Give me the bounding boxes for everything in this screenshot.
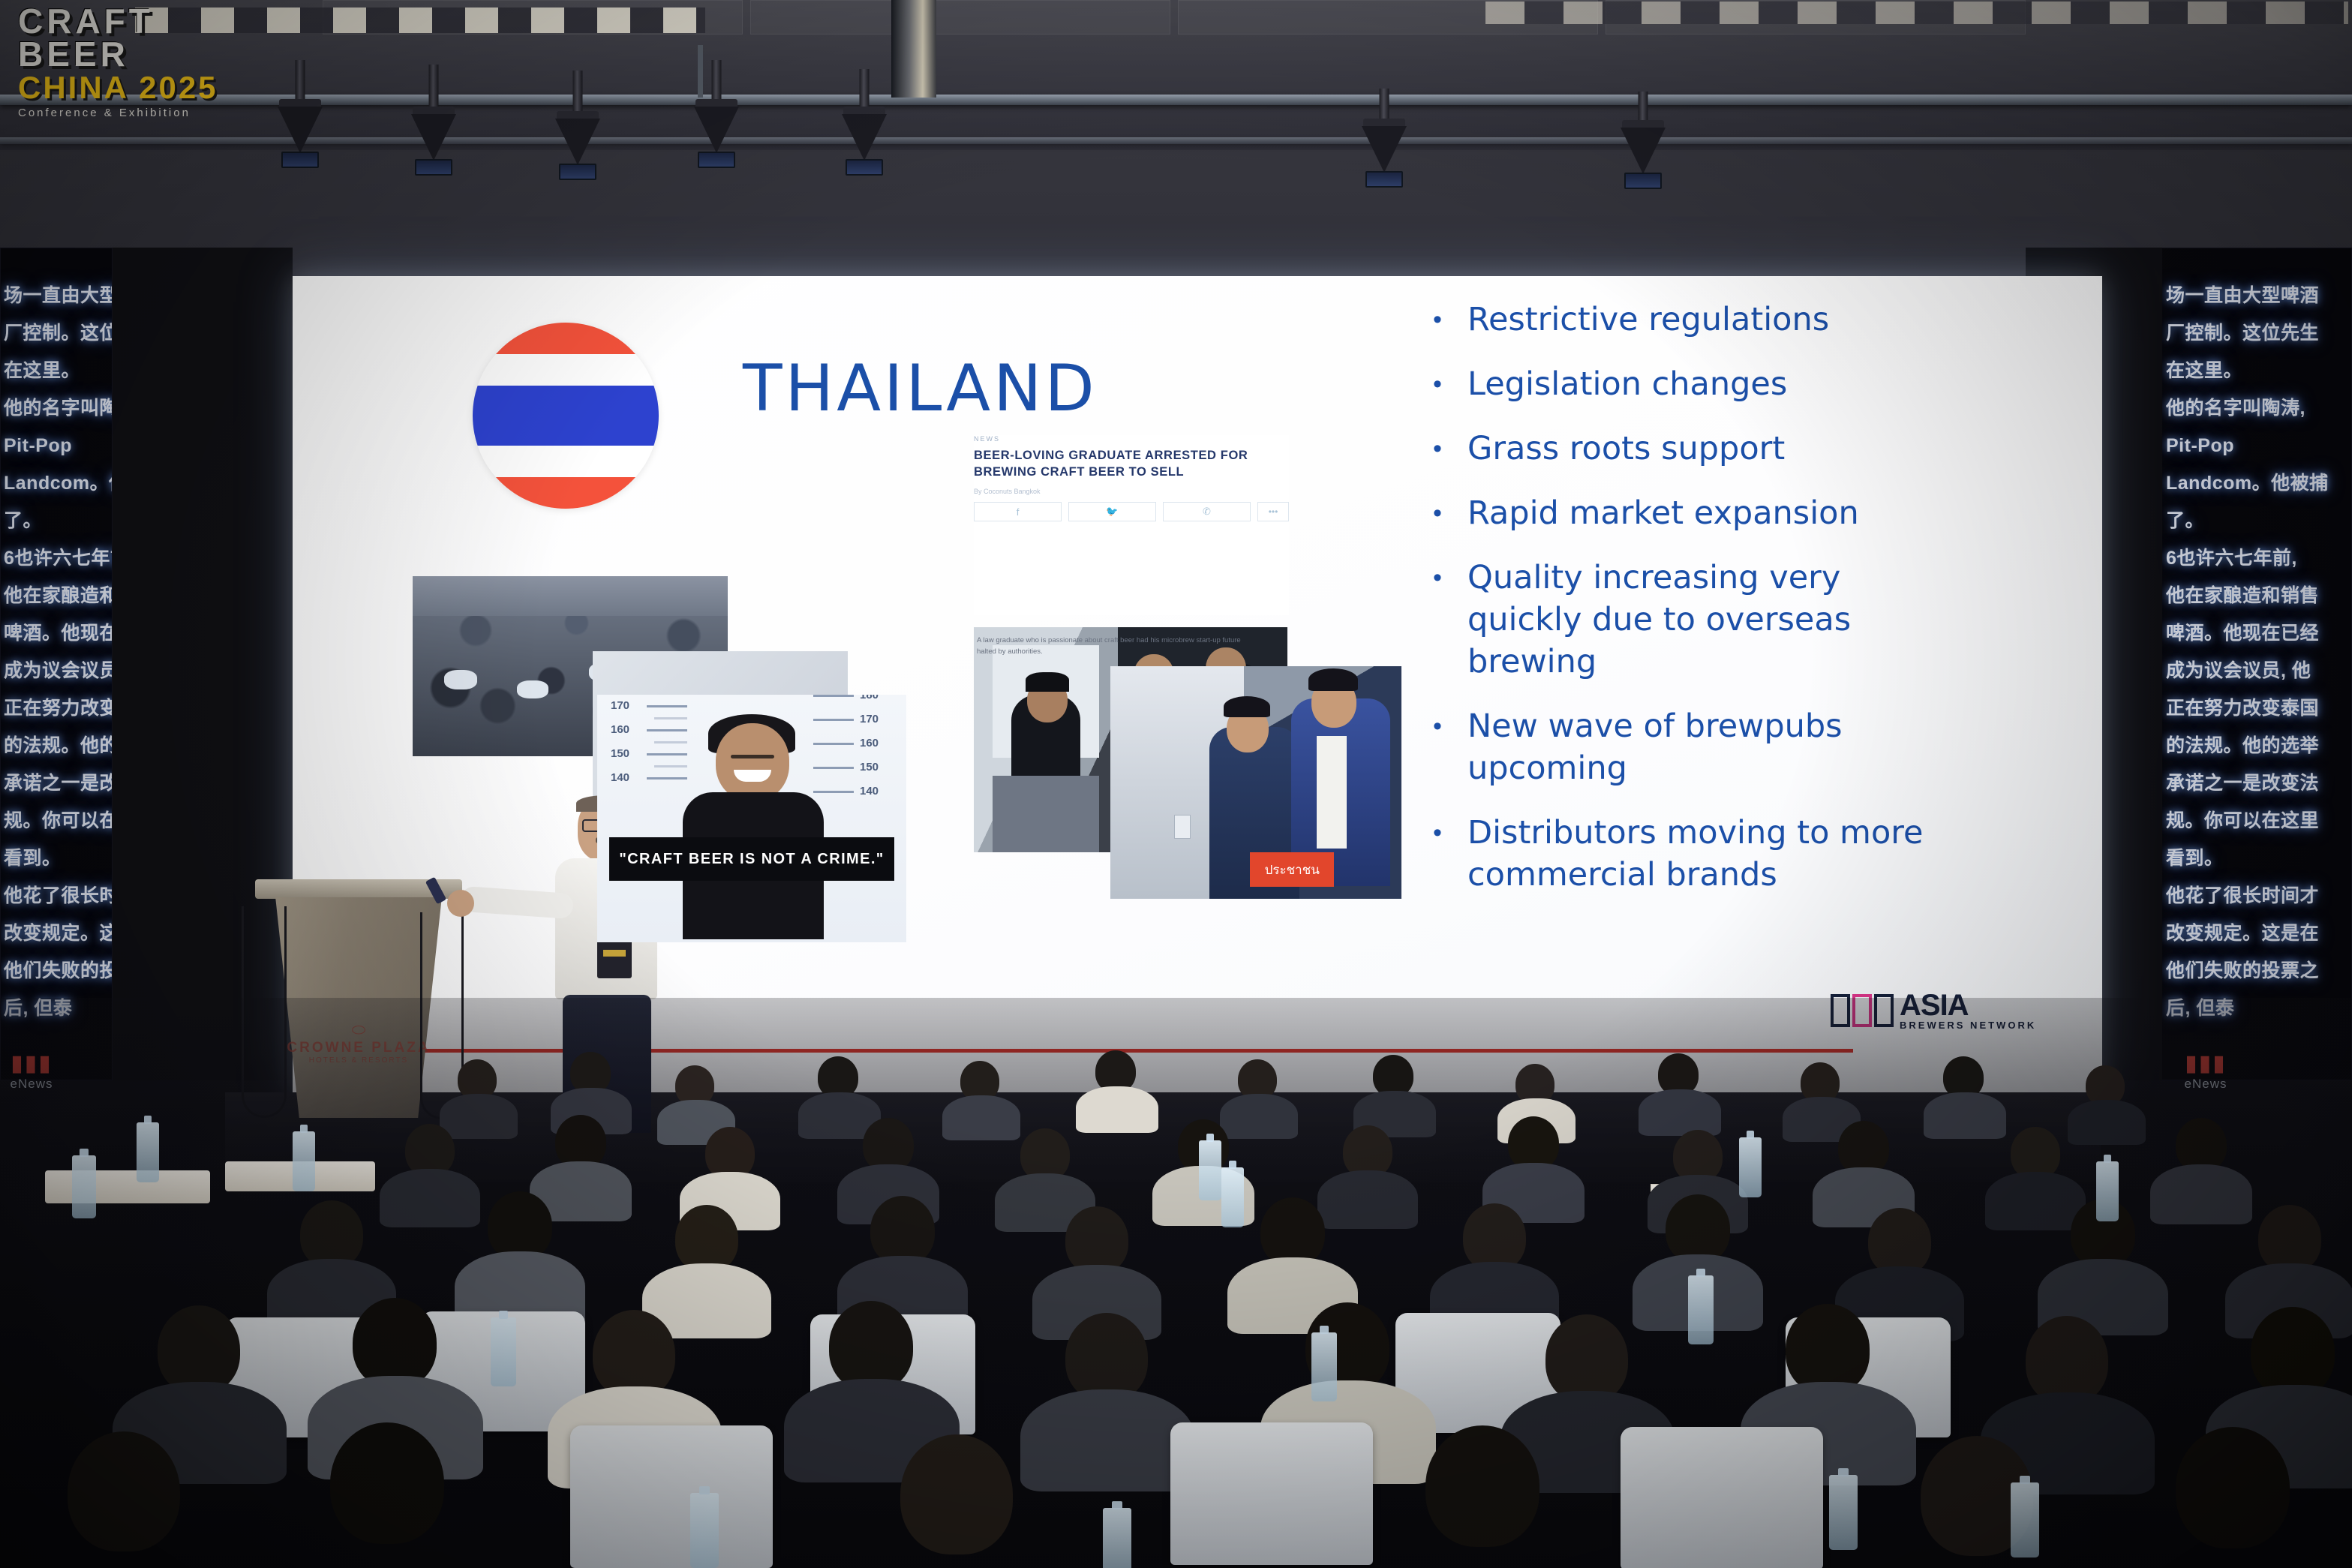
subtitle-line: 规。你可以在这里 xyxy=(4,802,113,840)
subtitle-line: 场一直由大型啤酒 xyxy=(4,277,113,314)
subtitle-line: 他的名字叫陶涛, xyxy=(2166,389,2352,427)
bullet-item: • Legislation changes xyxy=(1433,363,2078,405)
bullet-text: Quality increasing very quickly due to o… xyxy=(1467,557,1948,683)
subtitle-line: 的法规。他的选举 xyxy=(4,727,113,764)
water-bottle xyxy=(2096,1161,2119,1221)
subtitle-line: 看到。 xyxy=(4,840,113,877)
subtitle-line: 了。 xyxy=(2166,502,2352,539)
bullet-item: • New wave of brewpubs upcoming xyxy=(1433,705,2078,789)
bullet-dot: • xyxy=(1433,428,1467,470)
water-bottle xyxy=(1688,1275,1714,1344)
water-bottle xyxy=(1199,1140,1221,1200)
arrested-person xyxy=(678,714,828,939)
bullet-item: • Restrictive regulations xyxy=(1433,299,2078,341)
subtitle-line: 成为议会议员, 他 xyxy=(4,652,113,689)
slide-bullet-list: • Restrictive regulations • Legislation … xyxy=(1433,299,2078,896)
subtitle-line: 6也许六七年前, xyxy=(2166,539,2352,577)
subtitle-line: 6也许六七年前, xyxy=(4,539,113,577)
slide-title: THAILAND xyxy=(743,351,1098,426)
event-logo-line3: Conference & Exhibition xyxy=(18,107,258,119)
right-subtitle-led-wall: 场一直由大型啤酒厂控制。这位先生在这里。他的名字叫陶涛,Pit-PopLandc… xyxy=(2161,248,2352,1080)
subtitle-line: 他们失败的投票之 xyxy=(2166,952,2352,990)
subtitle-line: 在这里。 xyxy=(2166,352,2352,389)
news-article-card: NEWS BEER-LOVING GRADUATE ARRESTED FOR B… xyxy=(974,435,1289,615)
lighting-truss-lower xyxy=(0,137,2352,144)
subtitle-line: 看到。 xyxy=(2166,840,2352,877)
subtitle-line: 厂控制。这位先生 xyxy=(4,314,113,352)
ceiling-panel xyxy=(750,0,1170,35)
subtitle-line: 的法规。他的选举 xyxy=(2166,727,2352,764)
water-bottle xyxy=(72,1155,96,1218)
event-logo: CRAFT BEER CHINA 2025 Conference & Exhib… xyxy=(18,5,258,89)
bullet-item: • Distributors moving to more commercial… xyxy=(1433,812,2078,896)
protest-sign: "CRAFT BEER IS NOT A CRIME." xyxy=(609,837,894,881)
event-logo-line1: CRAFT BEER xyxy=(18,5,258,71)
thailand-flag-icon xyxy=(473,323,659,509)
lighting-truss-upper xyxy=(0,95,2352,105)
share-facebook-icon[interactable]: f xyxy=(974,502,1062,521)
subtitle-line: Pit-Pop xyxy=(2166,427,2352,464)
subtitle-line: 承诺之一是改变法 xyxy=(4,764,113,802)
subtitle-line: 承诺之一是改变法 xyxy=(2166,764,2352,802)
subtitle-line: 他们失败的投票之 xyxy=(4,952,113,990)
subtitle-line: Pit-Pop xyxy=(4,427,113,464)
conference-hall-photo: CRAFT BEER CHINA 2025 Conference & Exhib… xyxy=(0,0,2352,1568)
water-bottle xyxy=(293,1131,315,1191)
mugshot-photo: 170 160 150 140 180 170 160 150 140 xyxy=(597,695,906,942)
bullet-item: • Grass roots support xyxy=(1433,428,2078,470)
subtitle-line: 他花了很长时间才 xyxy=(4,877,113,915)
bullet-text: Legislation changes xyxy=(1467,363,1787,405)
bullet-text: Rapid market expansion xyxy=(1467,492,1859,534)
bullet-text: New wave of brewpubs upcoming xyxy=(1467,705,1888,789)
bullet-item: • Quality increasing very quickly due to… xyxy=(1433,557,2078,683)
parliament-placard: ประชาชน xyxy=(1250,852,1334,887)
subtitle-line: 厂控制。这位先生 xyxy=(2166,314,2352,352)
truss-vertical xyxy=(698,45,703,98)
news-body-text: A law graduate who is passionate about c… xyxy=(977,635,1262,657)
subtitle-line: 规。你可以在这里 xyxy=(2166,802,2352,840)
share-twitter-icon[interactable]: 🐦 xyxy=(1068,502,1156,521)
subtitle-line: 改变规定。这是在 xyxy=(4,915,113,952)
subtitle-line: 正在努力改变泰国 xyxy=(2166,689,2352,727)
audience-table xyxy=(45,1170,210,1203)
subtitle-line: Landcom。他被捕 xyxy=(2166,464,2352,502)
share-buttons[interactable]: f 🐦 ✆ ••• xyxy=(974,502,1289,521)
bullet-text: Grass roots support xyxy=(1467,428,1785,470)
subtitle-line: 他在家酿造和销售 xyxy=(2166,577,2352,614)
bullet-dot: • xyxy=(1433,557,1467,599)
subtitle-line: Landcom。他被捕 xyxy=(4,464,113,502)
bullet-text: Restrictive regulations xyxy=(1467,299,1829,341)
left-subtitle-led-wall: 场一直由大型啤酒厂控制。这位先生在这里。他的名字叫陶涛,Pit-PopLandc… xyxy=(0,248,113,1080)
left-subtitle-text: 场一直由大型啤酒厂控制。这位先生在这里。他的名字叫陶涛,Pit-PopLandc… xyxy=(4,277,113,1027)
parliament-photo: ประชาชน xyxy=(1110,666,1401,899)
share-more-icon[interactable]: ••• xyxy=(1257,502,1289,521)
subtitle-line: 改变规定。这是在 xyxy=(2166,915,2352,952)
water-bottle xyxy=(137,1122,159,1182)
water-bottle xyxy=(1739,1137,1762,1197)
subtitle-line: 场一直由大型啤酒 xyxy=(2166,277,2352,314)
water-bottle xyxy=(1221,1167,1244,1227)
water-bottle xyxy=(2011,1482,2039,1557)
subtitle-line: 他的名字叫陶涛, xyxy=(4,389,113,427)
ceiling-light-strip xyxy=(1485,2,2348,24)
truss-vertical xyxy=(891,0,936,98)
subtitle-line: 他花了很长时间才 xyxy=(2166,877,2352,915)
water-bottle xyxy=(1311,1332,1337,1401)
event-logo-line2: CHINA 2025 xyxy=(18,72,258,104)
subtitle-line: 他在家酿造和销售 xyxy=(4,577,113,614)
bullet-dot: • xyxy=(1433,363,1467,405)
bullet-dot: • xyxy=(1433,705,1467,747)
bullet-dot: • xyxy=(1433,299,1467,341)
bullet-text: Distributors moving to more commercial b… xyxy=(1467,812,2008,896)
subtitle-line: 正在努力改变泰国 xyxy=(4,689,113,727)
water-bottle xyxy=(491,1317,516,1386)
news-kicker: NEWS xyxy=(974,435,1289,443)
right-subtitle-text: 场一直由大型啤酒厂控制。这位先生在这里。他的名字叫陶涛,Pit-PopLandc… xyxy=(2166,277,2352,1027)
bullet-dot: • xyxy=(1433,812,1467,854)
bullet-dot: • xyxy=(1433,492,1467,534)
news-headline: BEER-LOVING GRADUATE ARRESTED FOR BREWIN… xyxy=(974,447,1274,480)
share-whatsapp-icon[interactable]: ✆ xyxy=(1163,502,1251,521)
news-byline: By Coconuts Bangkok xyxy=(974,488,1289,495)
subtitle-line: 在这里。 xyxy=(4,352,113,389)
water-bottle xyxy=(1829,1475,1858,1550)
subtitle-line: 成为议会议员, 他 xyxy=(2166,652,2352,689)
water-bottle xyxy=(1103,1508,1131,1568)
water-bottle xyxy=(690,1493,719,1568)
bullet-item: • Rapid market expansion xyxy=(1433,492,2078,534)
subtitle-line: 啤酒。他现在已经 xyxy=(2166,614,2352,652)
subtitle-line: 了。 xyxy=(4,502,113,539)
subtitle-line: 啤酒。他现在已经 xyxy=(4,614,113,652)
